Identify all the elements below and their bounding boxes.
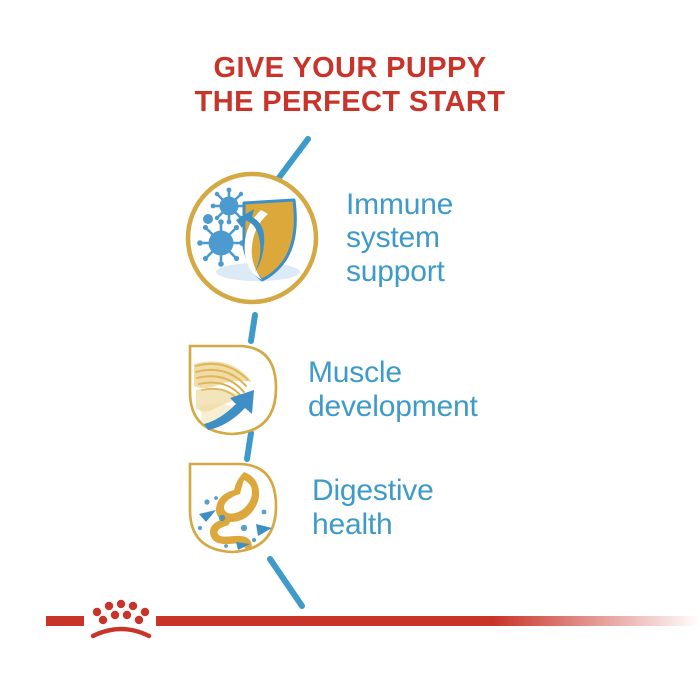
feature-label-digestive: Digestive health [312,474,434,541]
shield-muscle-arrow-icon [182,340,282,440]
feature-row-muscle: Muscle development [182,340,478,440]
feature-label-muscle: Muscle development [308,356,478,423]
crown-dots-icon [88,598,154,642]
page-title-line-1: GIVE YOUR PUPPY [0,52,700,86]
feature-label-immune: Immune system support [346,188,453,289]
feature-row-immune: Immune system support [182,168,453,308]
page-title-line-2: THE PERFECT START [0,86,700,120]
feature-row-digestive: Digestive health [182,458,434,558]
shield-virus-icon [182,168,322,308]
page-title: GIVE YOUR PUPPY THE PERFECT START [0,52,700,120]
shield-stomach-icon [182,458,282,558]
infographic-canvas: GIVE YOUR PUPPY THE PERFECT START [0,0,700,700]
